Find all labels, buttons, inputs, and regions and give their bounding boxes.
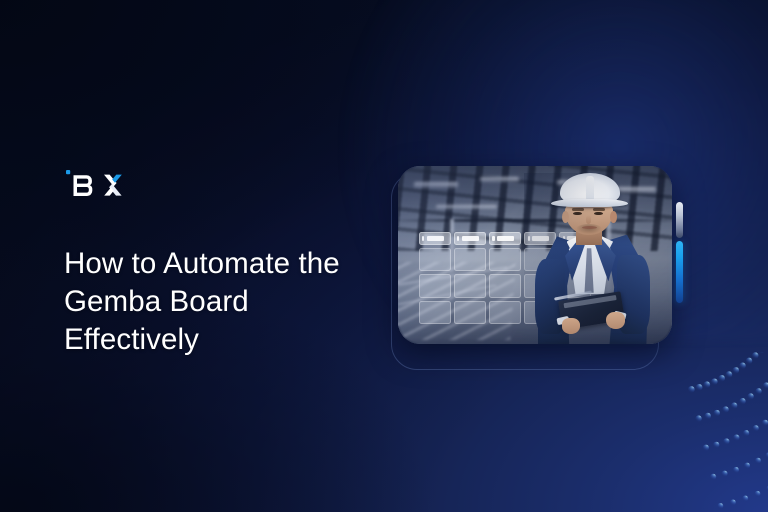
person-hard-hat-brim: [551, 199, 628, 207]
person-ear-right: [610, 211, 617, 223]
gemba-cell[interactable]: [419, 274, 451, 298]
person-brow-right: [593, 208, 605, 211]
gemba-column-header[interactable]: [489, 232, 521, 245]
page-title-line-3: Effectively: [64, 321, 394, 359]
person-hand-right: [606, 312, 625, 329]
bx-logo[interactable]: [64, 166, 142, 200]
page-title-line-1: How to Automate the: [64, 245, 394, 283]
person-hard-hat-ridge: [586, 176, 594, 202]
page-title-line-2: Gemba Board: [64, 283, 394, 321]
person-hand-left: [562, 318, 580, 333]
person-brow-left: [572, 208, 584, 211]
volume-button[interactable]: [676, 202, 683, 238]
gemba-cell[interactable]: [454, 248, 486, 272]
gemba-column-header[interactable]: [454, 232, 486, 245]
person-ear-left: [562, 211, 569, 223]
gemba-cell[interactable]: [489, 274, 521, 298]
logo-dot-icon: [66, 170, 70, 174]
side-button-accent[interactable]: [676, 241, 683, 303]
gemba-cell[interactable]: [419, 301, 451, 325]
logo-letter-b: [74, 175, 93, 196]
phone-mockup: [384, 150, 704, 365]
gemba-cell[interactable]: [489, 248, 521, 272]
gemba-cell[interactable]: [454, 301, 486, 325]
gemba-cell[interactable]: [454, 274, 486, 298]
person-nose: [586, 215, 591, 224]
gemba-cell[interactable]: [419, 248, 451, 272]
photo-person-engineer: [524, 173, 661, 344]
page-title: How to Automate the Gemba Board Effectiv…: [64, 245, 394, 359]
gemba-cell[interactable]: [489, 301, 521, 325]
halftone-dot-pattern: [150, 352, 768, 512]
gemba-column-header[interactable]: [419, 232, 451, 245]
cover-canvas: How to Automate the Gemba Board Effectiv…: [0, 0, 768, 512]
phone-screen[interactable]: [398, 166, 672, 344]
